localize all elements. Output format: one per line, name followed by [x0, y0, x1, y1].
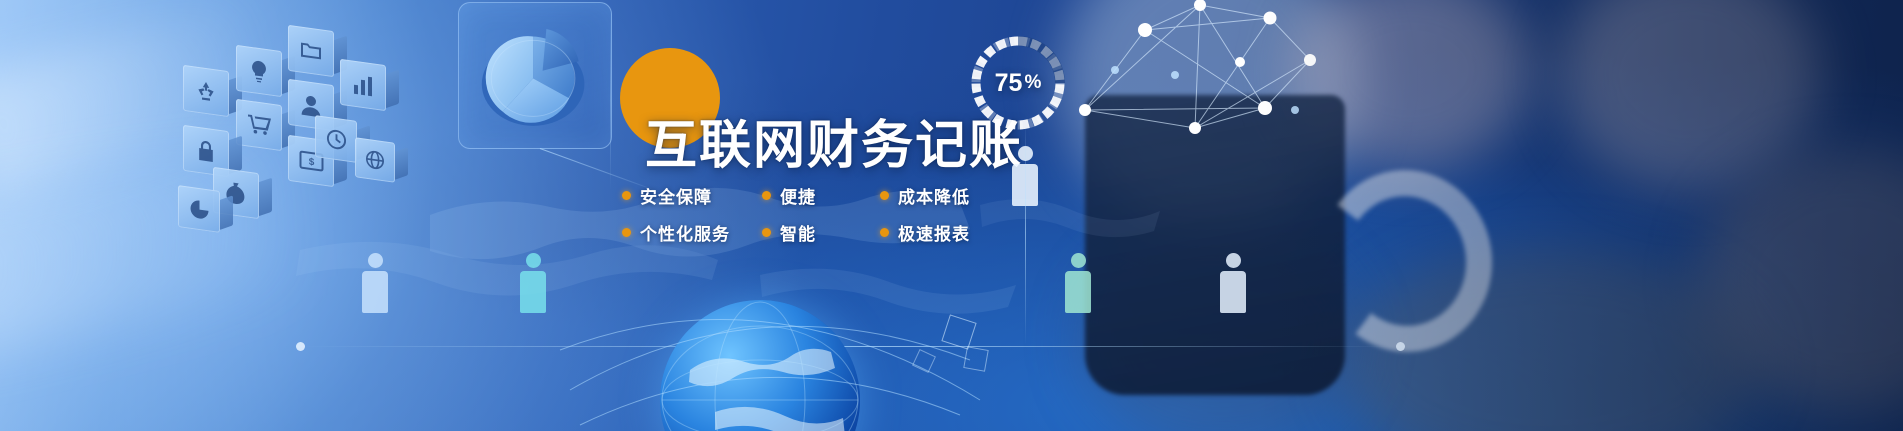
promo-banner: $ — [0, 0, 1903, 431]
right-edge-shade — [0, 0, 1903, 431]
